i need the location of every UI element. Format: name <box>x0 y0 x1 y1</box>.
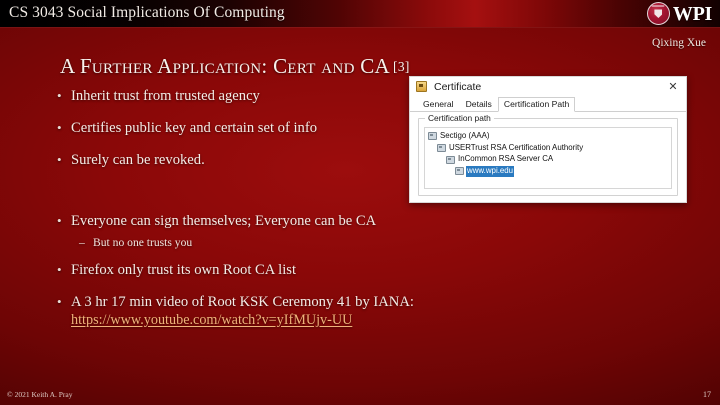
bullet-marker-icon: • <box>57 120 71 136</box>
list-item: • A 3 hr 17 min video of Root KSK Ceremo… <box>57 294 487 328</box>
dialog-title: Certificate <box>434 81 481 93</box>
youtube-link[interactable]: https://www.youtube.com/watch?v=yIfMUjv-… <box>71 312 352 329</box>
wpi-wordmark: WPI <box>673 4 712 24</box>
dialog-tab-bar: General Details Certification Path <box>410 96 686 112</box>
tree-item-label: www.wpi.edu <box>466 166 514 177</box>
page-title: A Further Application: Cert and CA[3] <box>60 54 410 79</box>
certificate-dialog[interactable]: Certificate ✕ General Details Certificat… <box>409 76 687 203</box>
list-item: • Everyone can sign themselves; Everyone… <box>57 213 487 230</box>
sub-list-item-label: But no one trusts you <box>93 236 192 249</box>
course-title: CS 3043 Social Implications Of Computing <box>9 4 285 22</box>
bullet-marker-icon: • <box>57 262 71 278</box>
list-item-label: A 3 hr 17 min video of Root KSK Ceremony… <box>71 294 487 328</box>
page-title-reference: [3] <box>393 59 410 74</box>
certificate-node-icon <box>437 144 446 152</box>
list-item: • Surely can be revoked. <box>57 152 407 169</box>
footer-page-number: 17 <box>703 390 711 399</box>
certificate-node-icon <box>446 156 455 164</box>
tree-item-label: Sectigo (AAA) <box>439 131 491 142</box>
list-item-label: Inherit trust from trusted agency <box>71 88 407 105</box>
tab-details[interactable]: Details <box>460 97 498 112</box>
list-item: • Certifies public key and certain set o… <box>57 120 407 137</box>
list-item-label: Certifies public key and certain set of … <box>71 120 407 137</box>
wpi-logo: WPI <box>647 2 712 25</box>
list-item-text: A 3 hr 17 min video of Root KSK Ceremony… <box>71 294 414 310</box>
tab-general[interactable]: General <box>417 97 460 112</box>
list-item-label: Firefox only trust its own Root CA list <box>71 262 487 279</box>
certificate-icon <box>416 81 427 92</box>
top-banner: CS 3043 Social Implications Of Computing… <box>0 0 720 27</box>
tree-item-label: InCommon RSA Server CA <box>457 154 554 165</box>
tree-item-leaf-selected[interactable]: www.wpi.edu <box>455 166 668 177</box>
bullet-group-bottom: • Everyone can sign themselves; Everyone… <box>57 213 487 329</box>
list-item-label: Everyone can sign themselves; Everyone c… <box>71 213 487 230</box>
bullet-marker-icon: • <box>57 88 71 104</box>
wpi-seal-icon <box>647 2 670 25</box>
sub-list-item: – But no one trusts you <box>79 236 487 249</box>
certification-path-group: Certification path Sectigo (AAA) USERTru… <box>418 118 678 196</box>
certificate-node-icon <box>455 167 464 175</box>
slide-canvas: CS 3043 Social Implications Of Computing… <box>0 0 720 405</box>
tree-item-intermediate-2[interactable]: InCommon RSA Server CA <box>446 154 668 165</box>
tab-certification-path[interactable]: Certification Path <box>498 97 575 112</box>
bullet-group-top: • Inherit trust from trusted agency • Ce… <box>57 88 407 185</box>
close-icon[interactable]: ✕ <box>665 79 681 94</box>
list-item: • Inherit trust from trusted agency <box>57 88 407 105</box>
dialog-body: Certification path Sectigo (AAA) USERTru… <box>410 112 686 198</box>
certificate-node-icon <box>428 132 437 140</box>
page-title-text: A Further Application: Cert and CA <box>60 54 390 78</box>
certification-path-tree[interactable]: Sectigo (AAA) USERTrust RSA Certificatio… <box>424 127 672 189</box>
tree-item-intermediate-1[interactable]: USERTrust RSA Certification Authority <box>437 143 668 154</box>
tree-item-label: USERTrust RSA Certification Authority <box>448 143 584 154</box>
author-name: Qixing Xue <box>652 37 706 49</box>
group-label: Certification path <box>425 113 494 123</box>
tree-item-root[interactable]: Sectigo (AAA) <box>428 131 668 142</box>
list-item-label: Surely can be revoked. <box>71 152 407 169</box>
bullet-marker-icon: • <box>57 213 71 229</box>
list-item: • Firefox only trust its own Root CA lis… <box>57 262 487 279</box>
bullet-marker-icon: • <box>57 294 71 310</box>
bullet-marker-icon: • <box>57 152 71 168</box>
dash-marker-icon: – <box>79 236 93 249</box>
footer-copyright: © 2021 Keith A. Pray <box>7 390 73 399</box>
dialog-title-bar[interactable]: Certificate ✕ <box>410 77 686 96</box>
